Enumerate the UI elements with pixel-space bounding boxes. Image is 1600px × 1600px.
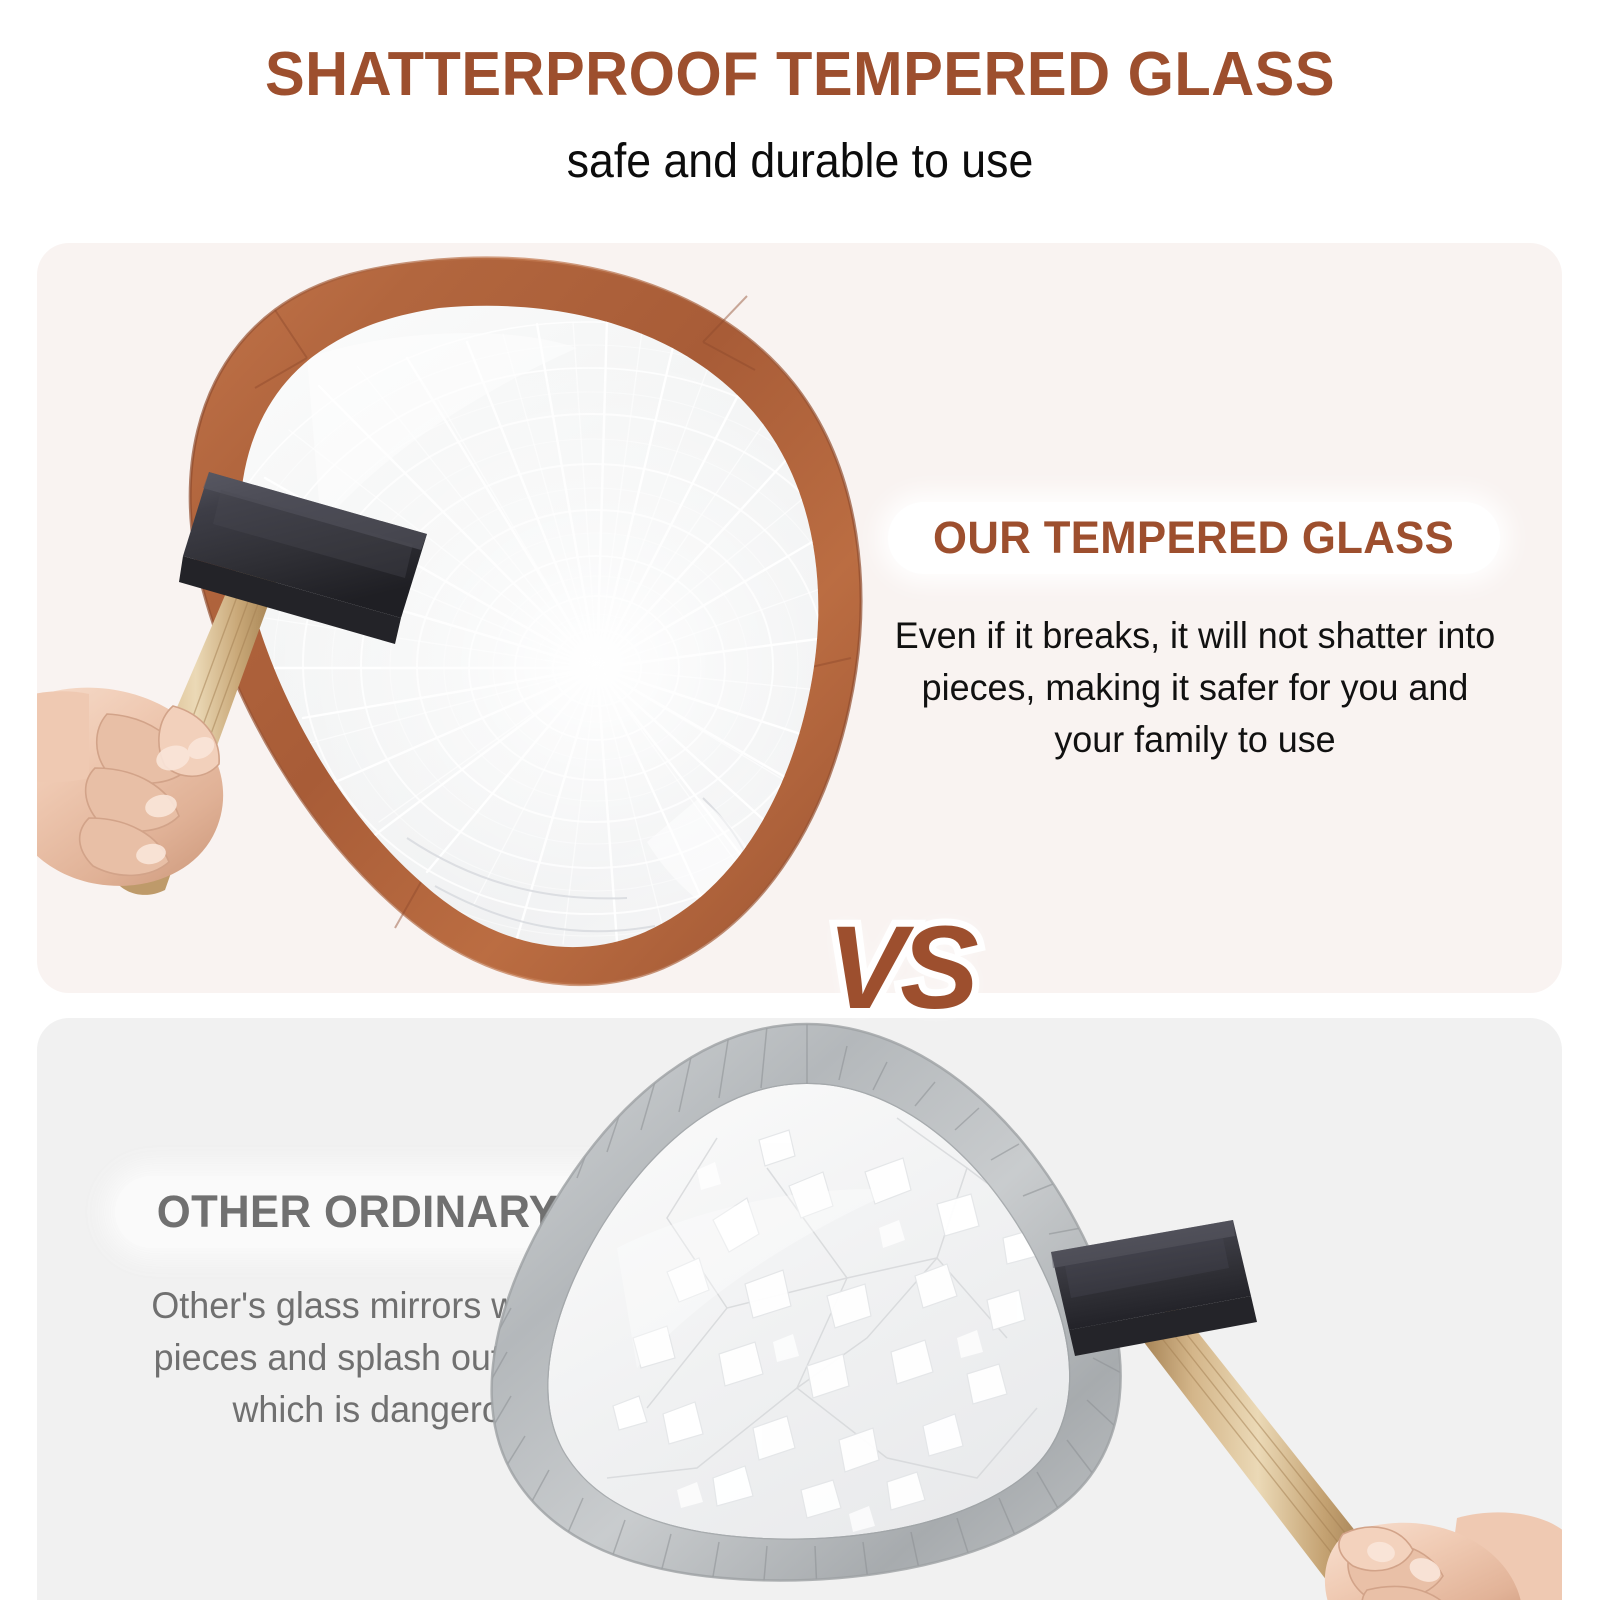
hammer-head: [1051, 1220, 1257, 1356]
hand-grip: [37, 688, 223, 886]
hand-grip: [1325, 1512, 1562, 1600]
tempered-glass-panel: OUR TEMPERED GLASS Even if it breaks, it…: [37, 243, 1562, 993]
tempered-glass-badge: OUR TEMPERED GLASS: [888, 502, 1500, 574]
ordinary-glass-panel: OTHER ORDINARY GLASS Other's glass mirro…: [37, 1018, 1562, 1600]
sledgehammer-with-hand-bottom: [1037, 1218, 1562, 1600]
page-title: SHATTERPROOF TEMPERED GLASS: [32, 40, 1568, 110]
vs-divider-badge: VS: [800, 908, 1000, 1028]
infographic-page: SHATTERPROOF TEMPERED GLASS safe and dur…: [0, 0, 1600, 1600]
sledgehammer-with-hand-top: [37, 438, 457, 918]
tempered-glass-badge-label: OUR TEMPERED GLASS: [933, 512, 1454, 564]
tempered-glass-description: Even if it breaks, it will not shatter i…: [889, 610, 1500, 766]
page-subtitle: safe and durable to use: [56, 130, 1544, 194]
